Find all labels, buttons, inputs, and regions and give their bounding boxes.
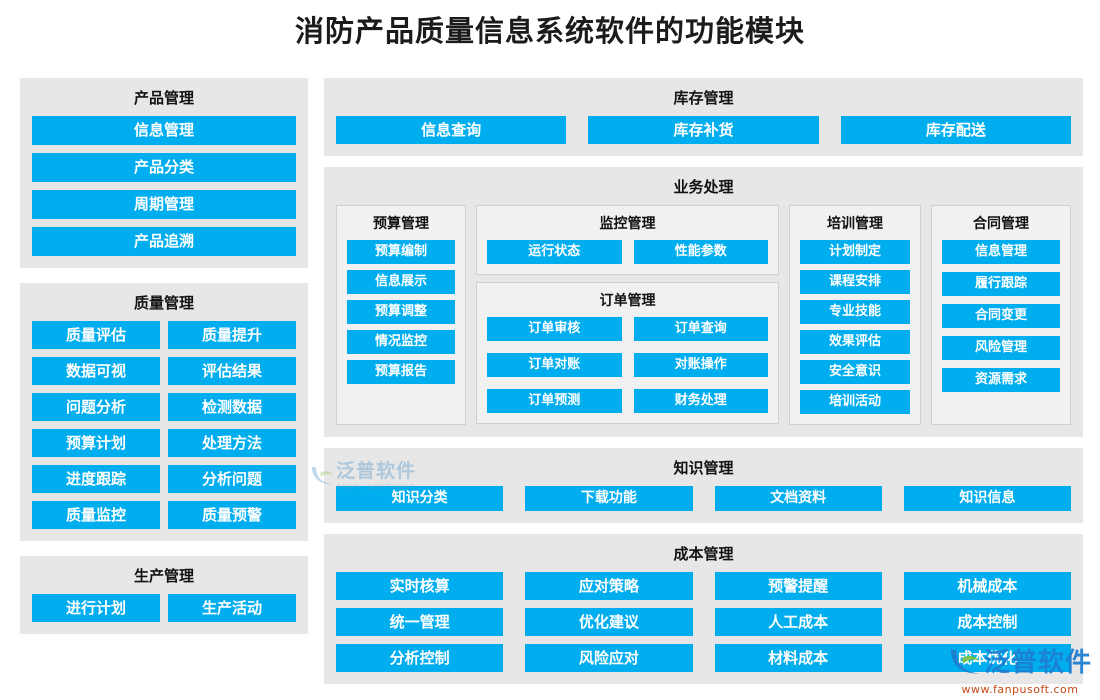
training-button-grid: 计划制定 课程安排 专业技能 效果评估 安全意识 培训活动 <box>800 240 910 414</box>
button-plan-formulation[interactable]: 计划制定 <box>800 240 910 264</box>
button-inventory-restock[interactable]: 库存补货 <box>588 116 818 144</box>
production-button-grid: 进行计划 生产活动 <box>32 594 296 622</box>
button-unified-management[interactable]: 统一管理 <box>336 608 503 636</box>
button-professional-skill[interactable]: 专业技能 <box>800 300 910 324</box>
subpanel-training-management: 培训管理 计划制定 课程安排 专业技能 效果评估 安全意识 培训活动 <box>789 205 921 425</box>
button-cost-control[interactable]: 成本控制 <box>904 608 1071 636</box>
button-cost-optimization[interactable]: 成本优化 <box>904 644 1071 672</box>
button-order-review[interactable]: 订单审核 <box>487 317 622 341</box>
order-button-grid: 订单审核 订单查询 订单对账 对账操作 订单预测 财务处理 <box>487 317 768 413</box>
button-problem-analysis[interactable]: 问题分析 <box>32 393 160 421</box>
button-warning-reminder[interactable]: 预警提醒 <box>715 572 882 600</box>
button-knowledge-info[interactable]: 知识信息 <box>904 486 1071 511</box>
button-safety-awareness[interactable]: 安全意识 <box>800 360 910 384</box>
panel-quality-management: 质量管理 质量评估 质量提升 数据可视 评估结果 问题分析 检测数据 预算计划 … <box>20 283 308 541</box>
panel-title-cost: 成本管理 <box>336 543 1071 565</box>
subpanel-monitoring-management: 监控管理 运行状态 性能参数 <box>476 205 779 275</box>
button-material-cost[interactable]: 材料成本 <box>715 644 882 672</box>
button-realtime-accounting[interactable]: 实时核算 <box>336 572 503 600</box>
quality-button-grid: 质量评估 质量提升 数据可视 评估结果 问题分析 检测数据 预算计划 处理方法 … <box>32 321 296 529</box>
button-progress-tracking[interactable]: 进度跟踪 <box>32 465 160 493</box>
business-subpanel-row: 预算管理 预算编制 信息展示 预算调整 情况监控 预算报告 监控管理 <box>336 205 1071 425</box>
panel-title-product: 产品管理 <box>32 87 296 109</box>
panel-title-business: 业务处理 <box>336 176 1071 198</box>
button-running-status[interactable]: 运行状态 <box>487 240 622 264</box>
button-quality-warning[interactable]: 质量预警 <box>168 501 296 529</box>
panel-cost-management: 成本管理 实时核算 应对策略 预警提醒 机械成本 统一管理 优化建议 人工成本 … <box>324 534 1083 684</box>
button-risk-management[interactable]: 风险管理 <box>942 336 1060 360</box>
button-labor-cost[interactable]: 人工成本 <box>715 608 882 636</box>
subpanel-title-training: 培训管理 <box>800 214 910 234</box>
button-info-display[interactable]: 信息展示 <box>347 270 455 294</box>
product-button-grid: 信息管理 产品分类 周期管理 产品追溯 <box>32 116 296 256</box>
button-inventory-delivery[interactable]: 库存配送 <box>841 116 1071 144</box>
button-knowledge-classification[interactable]: 知识分类 <box>336 486 503 511</box>
button-order-reconcile[interactable]: 订单对账 <box>487 353 622 377</box>
button-download-function[interactable]: 下载功能 <box>525 486 692 511</box>
button-course-arrangement[interactable]: 课程安排 <box>800 270 910 294</box>
button-cycle-management[interactable]: 周期管理 <box>32 190 296 219</box>
panel-title-quality: 质量管理 <box>32 292 296 314</box>
button-training-activity[interactable]: 培训活动 <box>800 390 910 414</box>
panel-product-management: 产品管理 信息管理 产品分类 周期管理 产品追溯 <box>20 78 308 268</box>
button-contract-change[interactable]: 合同变更 <box>942 304 1060 328</box>
button-document-materials[interactable]: 文档资料 <box>715 486 882 511</box>
button-performance-tracking[interactable]: 履行跟踪 <box>942 272 1060 296</box>
right-column: 库存管理 信息查询 库存补货 库存配送 业务处理 预算管理 预算编制 信息 <box>324 78 1083 692</box>
button-situation-monitor[interactable]: 情况监控 <box>347 330 455 354</box>
panel-title-knowledge: 知识管理 <box>336 457 1071 479</box>
subpanel-budget-management: 预算管理 预算编制 信息展示 预算调整 情况监控 预算报告 <box>336 205 466 425</box>
monitoring-button-grid: 运行状态 性能参数 <box>487 240 768 264</box>
subpanel-title-contract: 合同管理 <box>942 214 1060 234</box>
contract-button-grid: 信息管理 履行跟踪 合同变更 风险管理 资源需求 <box>942 240 1060 392</box>
button-quality-improvement[interactable]: 质量提升 <box>168 321 296 349</box>
knowledge-button-grid: 知识分类 下载功能 文档资料 知识信息 <box>336 486 1071 511</box>
button-resource-requirement[interactable]: 资源需求 <box>942 368 1060 392</box>
button-contract-info-management[interactable]: 信息管理 <box>942 240 1060 264</box>
button-analyze-problem[interactable]: 分析问题 <box>168 465 296 493</box>
button-assessment-results[interactable]: 评估结果 <box>168 357 296 385</box>
subpanel-contract-management: 合同管理 信息管理 履行跟踪 合同变更 风险管理 资源需求 <box>931 205 1071 425</box>
business-middle-stack: 监控管理 运行状态 性能参数 订单管理 订单审核 订单查询 订单对账 <box>476 205 779 425</box>
button-financial-process[interactable]: 财务处理 <box>634 389 769 413</box>
inventory-button-grid: 信息查询 库存补货 库存配送 <box>336 116 1071 144</box>
button-response-strategy[interactable]: 应对策略 <box>525 572 692 600</box>
button-machinery-cost[interactable]: 机械成本 <box>904 572 1071 600</box>
button-analysis-control[interactable]: 分析控制 <box>336 644 503 672</box>
button-product-classification[interactable]: 产品分类 <box>32 153 296 182</box>
subpanel-title-budget: 预算管理 <box>347 214 455 234</box>
button-budget-plan[interactable]: 预算计划 <box>32 429 160 457</box>
button-quality-assessment[interactable]: 质量评估 <box>32 321 160 349</box>
button-budget-adjustment[interactable]: 预算调整 <box>347 300 455 324</box>
button-performance-params[interactable]: 性能参数 <box>634 240 769 264</box>
button-order-query[interactable]: 订单查询 <box>634 317 769 341</box>
cost-button-grid: 实时核算 应对策略 预警提醒 机械成本 统一管理 优化建议 人工成本 成本控制 … <box>336 572 1071 672</box>
panel-title-production: 生产管理 <box>32 565 296 587</box>
module-board: 产品管理 信息管理 产品分类 周期管理 产品追溯 质量管理 质量评估 质量提升 … <box>20 78 1083 692</box>
subpanel-title-monitoring: 监控管理 <box>487 214 768 234</box>
button-production-activity[interactable]: 生产活动 <box>168 594 296 622</box>
button-order-forecast[interactable]: 订单预测 <box>487 389 622 413</box>
diagram-canvas: 消防产品质量信息系统软件的功能模块 产品管理 信息管理 产品分类 周期管理 产品… <box>0 0 1100 700</box>
button-handling-method[interactable]: 处理方法 <box>168 429 296 457</box>
left-column: 产品管理 信息管理 产品分类 周期管理 产品追溯 质量管理 质量评估 质量提升 … <box>20 78 308 692</box>
panel-title-inventory: 库存管理 <box>336 87 1071 109</box>
panel-production-management: 生产管理 进行计划 生产活动 <box>20 556 308 634</box>
panel-inventory-management: 库存管理 信息查询 库存补货 库存配送 <box>324 78 1083 156</box>
button-product-info-management[interactable]: 信息管理 <box>32 116 296 145</box>
button-inspection-data[interactable]: 检测数据 <box>168 393 296 421</box>
button-quality-monitoring[interactable]: 质量监控 <box>32 501 160 529</box>
panel-business-processing: 业务处理 预算管理 预算编制 信息展示 预算调整 情况监控 预算报告 <box>324 167 1083 437</box>
subpanel-title-order: 订单管理 <box>487 291 768 311</box>
budget-button-grid: 预算编制 信息展示 预算调整 情况监控 预算报告 <box>347 240 455 384</box>
button-data-visualization[interactable]: 数据可视 <box>32 357 160 385</box>
button-budget-report[interactable]: 预算报告 <box>347 360 455 384</box>
button-reconcile-ops[interactable]: 对账操作 <box>634 353 769 377</box>
subpanel-order-management: 订单管理 订单审核 订单查询 订单对账 对账操作 订单预测 财务处理 <box>476 282 779 424</box>
page-title: 消防产品质量信息系统软件的功能模块 <box>0 10 1100 52</box>
button-product-traceability[interactable]: 产品追溯 <box>32 227 296 256</box>
button-info-query[interactable]: 信息查询 <box>336 116 566 144</box>
button-execute-plan[interactable]: 进行计划 <box>32 594 160 622</box>
button-optimization-advice[interactable]: 优化建议 <box>525 608 692 636</box>
button-risk-response[interactable]: 风险应对 <box>525 644 692 672</box>
panel-knowledge-management: 知识管理 知识分类 下载功能 文档资料 知识信息 <box>324 448 1083 523</box>
button-budget-preparation[interactable]: 预算编制 <box>347 240 455 264</box>
button-effect-evaluation[interactable]: 效果评估 <box>800 330 910 354</box>
